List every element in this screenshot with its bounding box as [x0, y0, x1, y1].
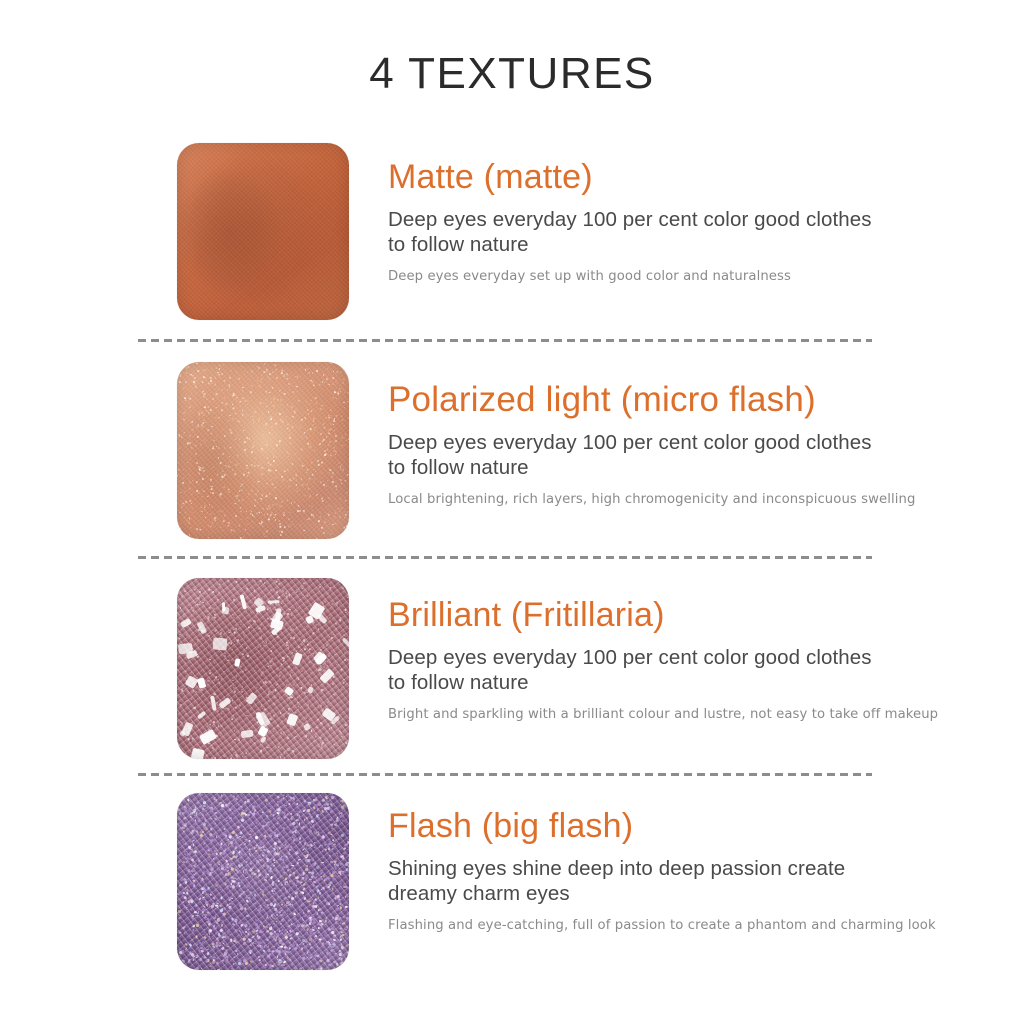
texture-caption: Deep eyes everyday set up with good colo… [388, 269, 988, 285]
flash-purple-glitter-swatch [177, 793, 349, 970]
texture-caption: Bright and sparkling with a brilliant co… [388, 707, 988, 723]
texture-body: Deep eyes everyday 100 per cent color go… [388, 430, 888, 480]
polarized-rose-gold-swatch [177, 362, 349, 539]
divider-3 [138, 773, 872, 776]
texture-text-polarized: Polarized light (micro flash) Deep eyes … [388, 382, 988, 508]
swatch-inner-shadow [177, 143, 349, 320]
texture-text-brilliant: Brilliant (Fritillaria) Deep eyes everyd… [388, 598, 988, 723]
divider-1 [138, 339, 872, 342]
swatch-inner-shadow [177, 578, 349, 759]
texture-title: Brilliant (Fritillaria) [388, 598, 988, 634]
texture-text-matte: Matte (matte) Deep eyes everyday 100 per… [388, 160, 988, 285]
texture-title: Matte (matte) [388, 160, 988, 196]
texture-caption: Flashing and eye-catching, full of passi… [388, 918, 988, 934]
brilliant-dusty-rose-swatch [177, 578, 349, 759]
texture-row-polarized: Polarized light (micro flash) Deep eyes … [0, 362, 1024, 542]
texture-body: Shining eyes shine deep into deep passio… [388, 856, 888, 906]
swatch-inner-shadow [177, 362, 349, 539]
texture-row-matte: Matte (matte) Deep eyes everyday 100 per… [0, 143, 1024, 323]
texture-row-flash: Flash (big flash) Shining eyes shine dee… [0, 793, 1024, 973]
swatch-inner-shadow [177, 793, 349, 970]
texture-infographic-page: 4 TEXTURES Matte (matte) Deep eyes every… [0, 0, 1024, 1024]
texture-title: Flash (big flash) [388, 809, 988, 845]
divider-2 [138, 556, 872, 559]
texture-text-flash: Flash (big flash) Shining eyes shine dee… [388, 809, 988, 934]
texture-caption: Local brightening, rich layers, high chr… [388, 492, 988, 508]
texture-row-brilliant: Brilliant (Fritillaria) Deep eyes everyd… [0, 578, 1024, 758]
matte-terracotta-swatch [177, 143, 349, 320]
texture-title: Polarized light (micro flash) [388, 382, 988, 419]
texture-body: Deep eyes everyday 100 per cent color go… [388, 645, 888, 695]
page-title: 4 TEXTURES [0, 52, 1024, 96]
texture-body: Deep eyes everyday 100 per cent color go… [388, 207, 888, 257]
